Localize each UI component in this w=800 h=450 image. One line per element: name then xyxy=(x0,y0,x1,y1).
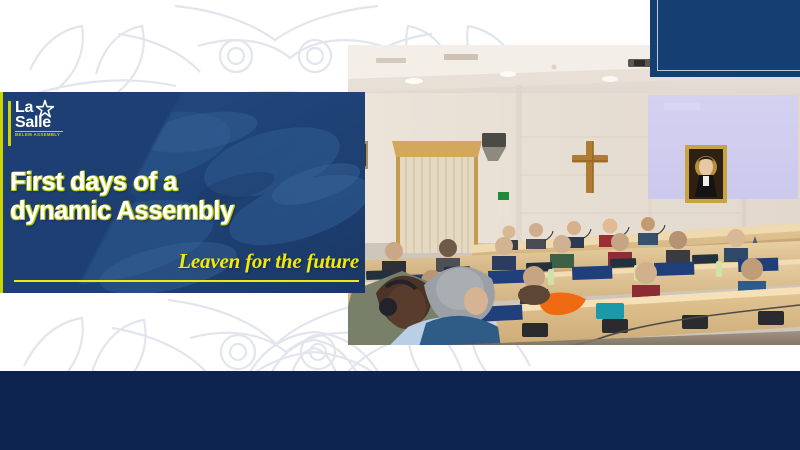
page-subtitle: Leaven for the future xyxy=(178,249,359,274)
title-card-accent-bar xyxy=(0,92,3,293)
logo-text-salle: Salle xyxy=(15,114,51,132)
banner-stage: La Salle xyxy=(0,0,800,450)
corner-accent-plate xyxy=(650,0,800,77)
page-title-line-2: dynamic Assembly xyxy=(10,197,340,226)
page-subtitle-underline xyxy=(14,280,359,282)
assembly-hall-photo: La Salle xyxy=(348,45,800,345)
logo-tagline: BELEM ASSEMBLY xyxy=(15,132,60,137)
logo-accent-bar xyxy=(8,101,11,146)
page-title: First days of a dynamic Assembly xyxy=(10,168,340,226)
corner-plate-inner-rule xyxy=(657,0,800,71)
la-salle-logo[interactable]: La Salle BELEM ASSEMBLY xyxy=(8,100,80,148)
page-title-line-1: First days of a xyxy=(10,168,340,197)
bottom-band xyxy=(0,371,800,450)
title-card: La Salle BELEM ASSEMBLY First days of a … xyxy=(0,92,365,293)
